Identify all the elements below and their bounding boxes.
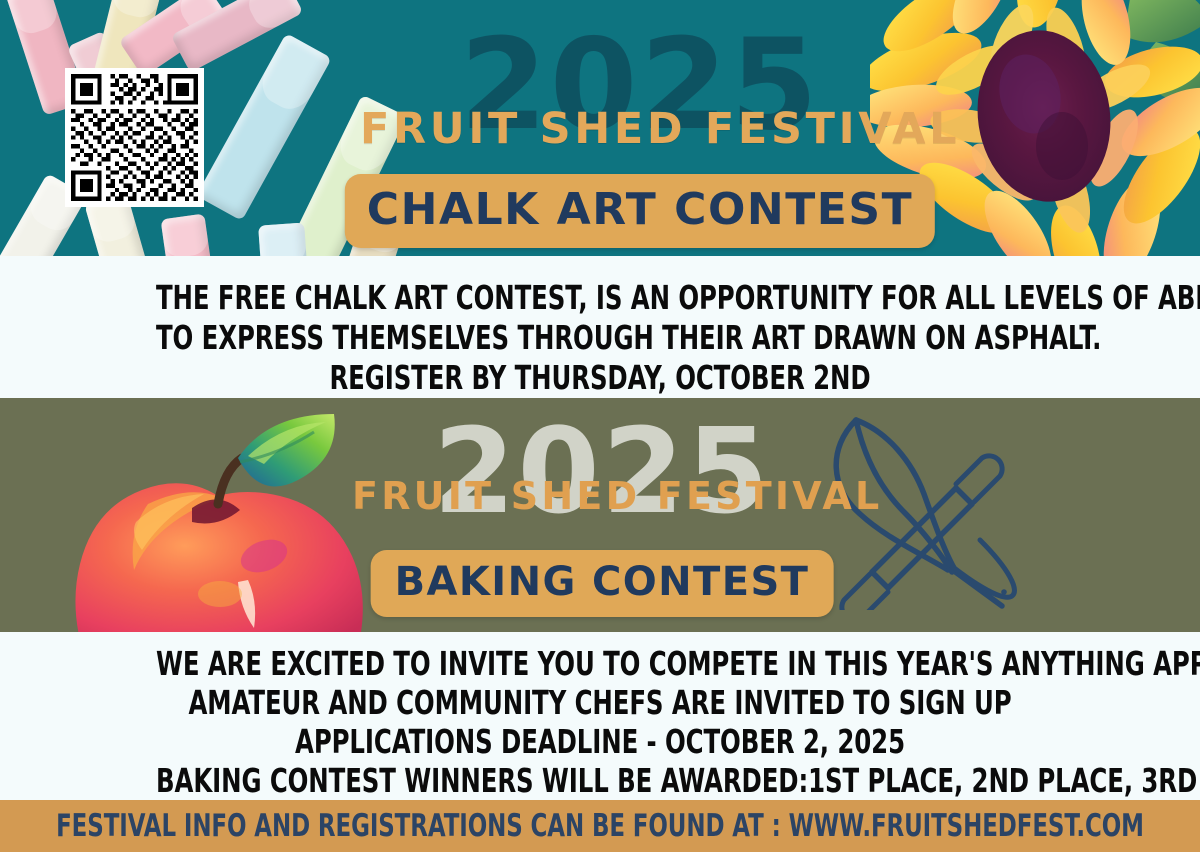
- baking-contest-title: BAKING CONTEST: [371, 550, 834, 617]
- chalk-copy-line-3: REGISTER BY THURSDAY, OCTOBER 2ND: [156, 358, 1044, 398]
- chalk-contest-qr-code[interactable]: [65, 68, 204, 207]
- festival-info-footer[interactable]: FESTIVAL INFO AND REGISTRATIONS CAN BE F…: [0, 800, 1200, 852]
- baking-festival-name: FRUIT SHED FESTIVAL: [352, 474, 852, 518]
- chalk-contest-description: THE FREE CHALK ART CONTEST, IS AN OPPORT…: [156, 256, 1044, 398]
- apple-pastel-art: [52, 412, 382, 632]
- chalk-art-banner: 2025 FRUIT SHED FESTIVAL CHALK ART CONTE…: [0, 0, 1200, 256]
- baking-contest-banner: 2025 FRUIT SHED FESTIVAL BAKING CONTEST: [0, 398, 1200, 632]
- chalk-copy-line-2: TO EXPRESS THEMSELVES THROUGH THEIR ART …: [156, 318, 1044, 358]
- baking-copy-line-2: AMATEUR AND COMMUNITY CHEFS ARE INVITED …: [156, 683, 1044, 722]
- baking-copy-line-3: APPLICATIONS DEADLINE - OCTOBER 2, 2025: [156, 722, 1044, 761]
- festival-website-text[interactable]: FESTIVAL INFO AND REGISTRATIONS CAN BE F…: [56, 808, 1144, 844]
- chalk-festival-name: FRUIT SHED FESTIVAL: [360, 104, 920, 154]
- chalk-copy-line-1: THE FREE CHALK ART CONTEST, IS AN OPPORT…: [156, 278, 1044, 318]
- qr-matrix: [71, 74, 198, 201]
- baking-contest-description: WE ARE EXCITED TO INVITE YOU TO COMPETE …: [156, 632, 1044, 800]
- baking-copy-line-4: BAKING CONTEST WINNERS WILL BE AWARDED:1…: [156, 761, 1044, 800]
- baking-copy-line-1: WE ARE EXCITED TO INVITE YOU TO COMPETE …: [156, 644, 1044, 683]
- chalk-contest-title: CHALK ART CONTEST: [345, 174, 935, 248]
- festival-poster: 2025 FRUIT SHED FESTIVAL CHALK ART CONTE…: [0, 0, 1200, 852]
